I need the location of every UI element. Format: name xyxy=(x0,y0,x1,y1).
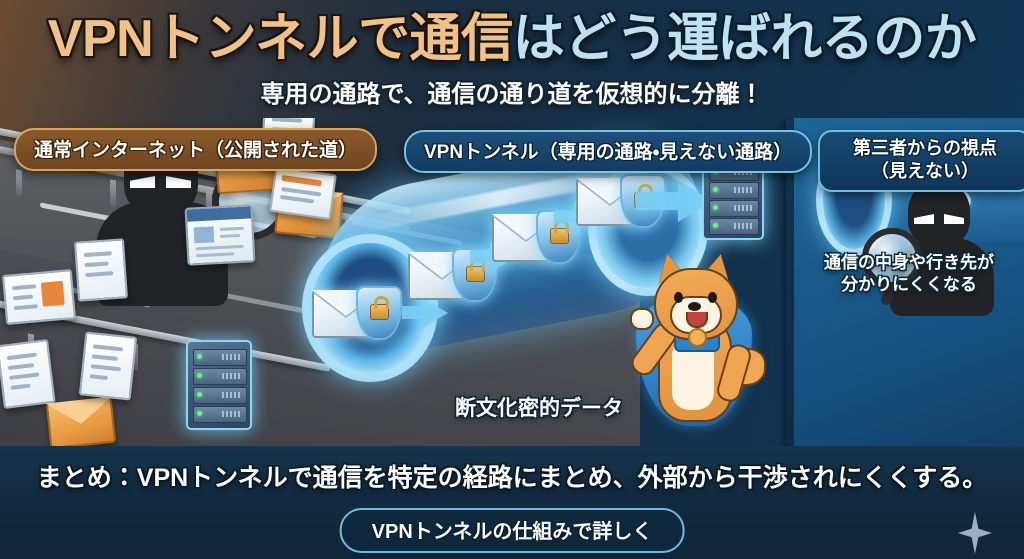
badge-public-internet: 通常インターネット（公開された道） xyxy=(14,128,377,171)
badge-third-party-view: 第三者からの視点 （見えない） xyxy=(818,130,1024,192)
mascot-paw-left xyxy=(630,308,654,330)
mascot-eye-left xyxy=(674,292,683,303)
shield-lock-icon xyxy=(356,286,402,340)
lock-icon xyxy=(550,228,569,244)
browser-window-icon xyxy=(185,204,256,265)
document-icon xyxy=(0,339,56,409)
server-rack-icon xyxy=(186,340,252,430)
document-icon xyxy=(79,331,137,400)
tunnel-exit-arrow xyxy=(636,192,680,210)
tunnel-data-callout: 断文化密的データ xyxy=(455,392,623,422)
flow-arrow xyxy=(470,250,492,263)
cta-button[interactable]: VPNトンネルの仕組みで詳しく xyxy=(340,508,685,553)
third-party-caption: 通信の中身や行き先が 分かりにくくなる xyxy=(794,252,1024,296)
document-icon xyxy=(2,269,76,325)
mascot-collar-gem xyxy=(688,328,707,347)
document-icon xyxy=(74,238,128,301)
infographic-canvas: VPNトンネルで通信はどう運ばれるのか 専用の通路で、通信の通り道を仮想的に分離… xyxy=(0,0,1024,559)
envelope-icon xyxy=(46,397,116,448)
third-party-caption-line1: 通信の中身や行き先が xyxy=(794,252,1024,274)
summary-text: まとめ：VPNトンネルで通信を特定の経路にまとめ、外部から干渉されにくくする。 xyxy=(0,458,1024,494)
badge-third-party-line1: 第三者からの視点 xyxy=(830,137,1020,160)
guardrail-post xyxy=(16,169,22,196)
header: VPNトンネルで通信はどう運ばれるのか 専用の通路で、通信の通り道を仮想的に分離… xyxy=(0,0,1024,120)
page-title-gold: VPNトンネルで通信 xyxy=(48,10,513,68)
badge-vpn-tunnel: VPNトンネル（専用の通路・見えない通路） xyxy=(404,130,812,173)
mascot-nose xyxy=(688,302,701,311)
shiba-mascot xyxy=(630,248,760,448)
third-party-caption-line2: 分かりにくくなる xyxy=(794,274,1024,296)
lock-icon xyxy=(370,304,389,320)
flow-arrow xyxy=(554,210,576,223)
page-subtitle: 専用の通路で、通信の通り道を仮想的に分離！ xyxy=(0,74,1024,109)
flow-arrow xyxy=(402,306,424,319)
mascot-eye-right xyxy=(708,292,717,303)
badge-third-party-line2: （見えない） xyxy=(830,160,1020,183)
page-title-blue: はどう運ばれるのか xyxy=(513,10,977,68)
encrypted-packet xyxy=(312,286,408,342)
lock-icon xyxy=(466,266,485,282)
page-title: VPNトンネルで通信はどう運ばれるのか xyxy=(0,8,1024,70)
